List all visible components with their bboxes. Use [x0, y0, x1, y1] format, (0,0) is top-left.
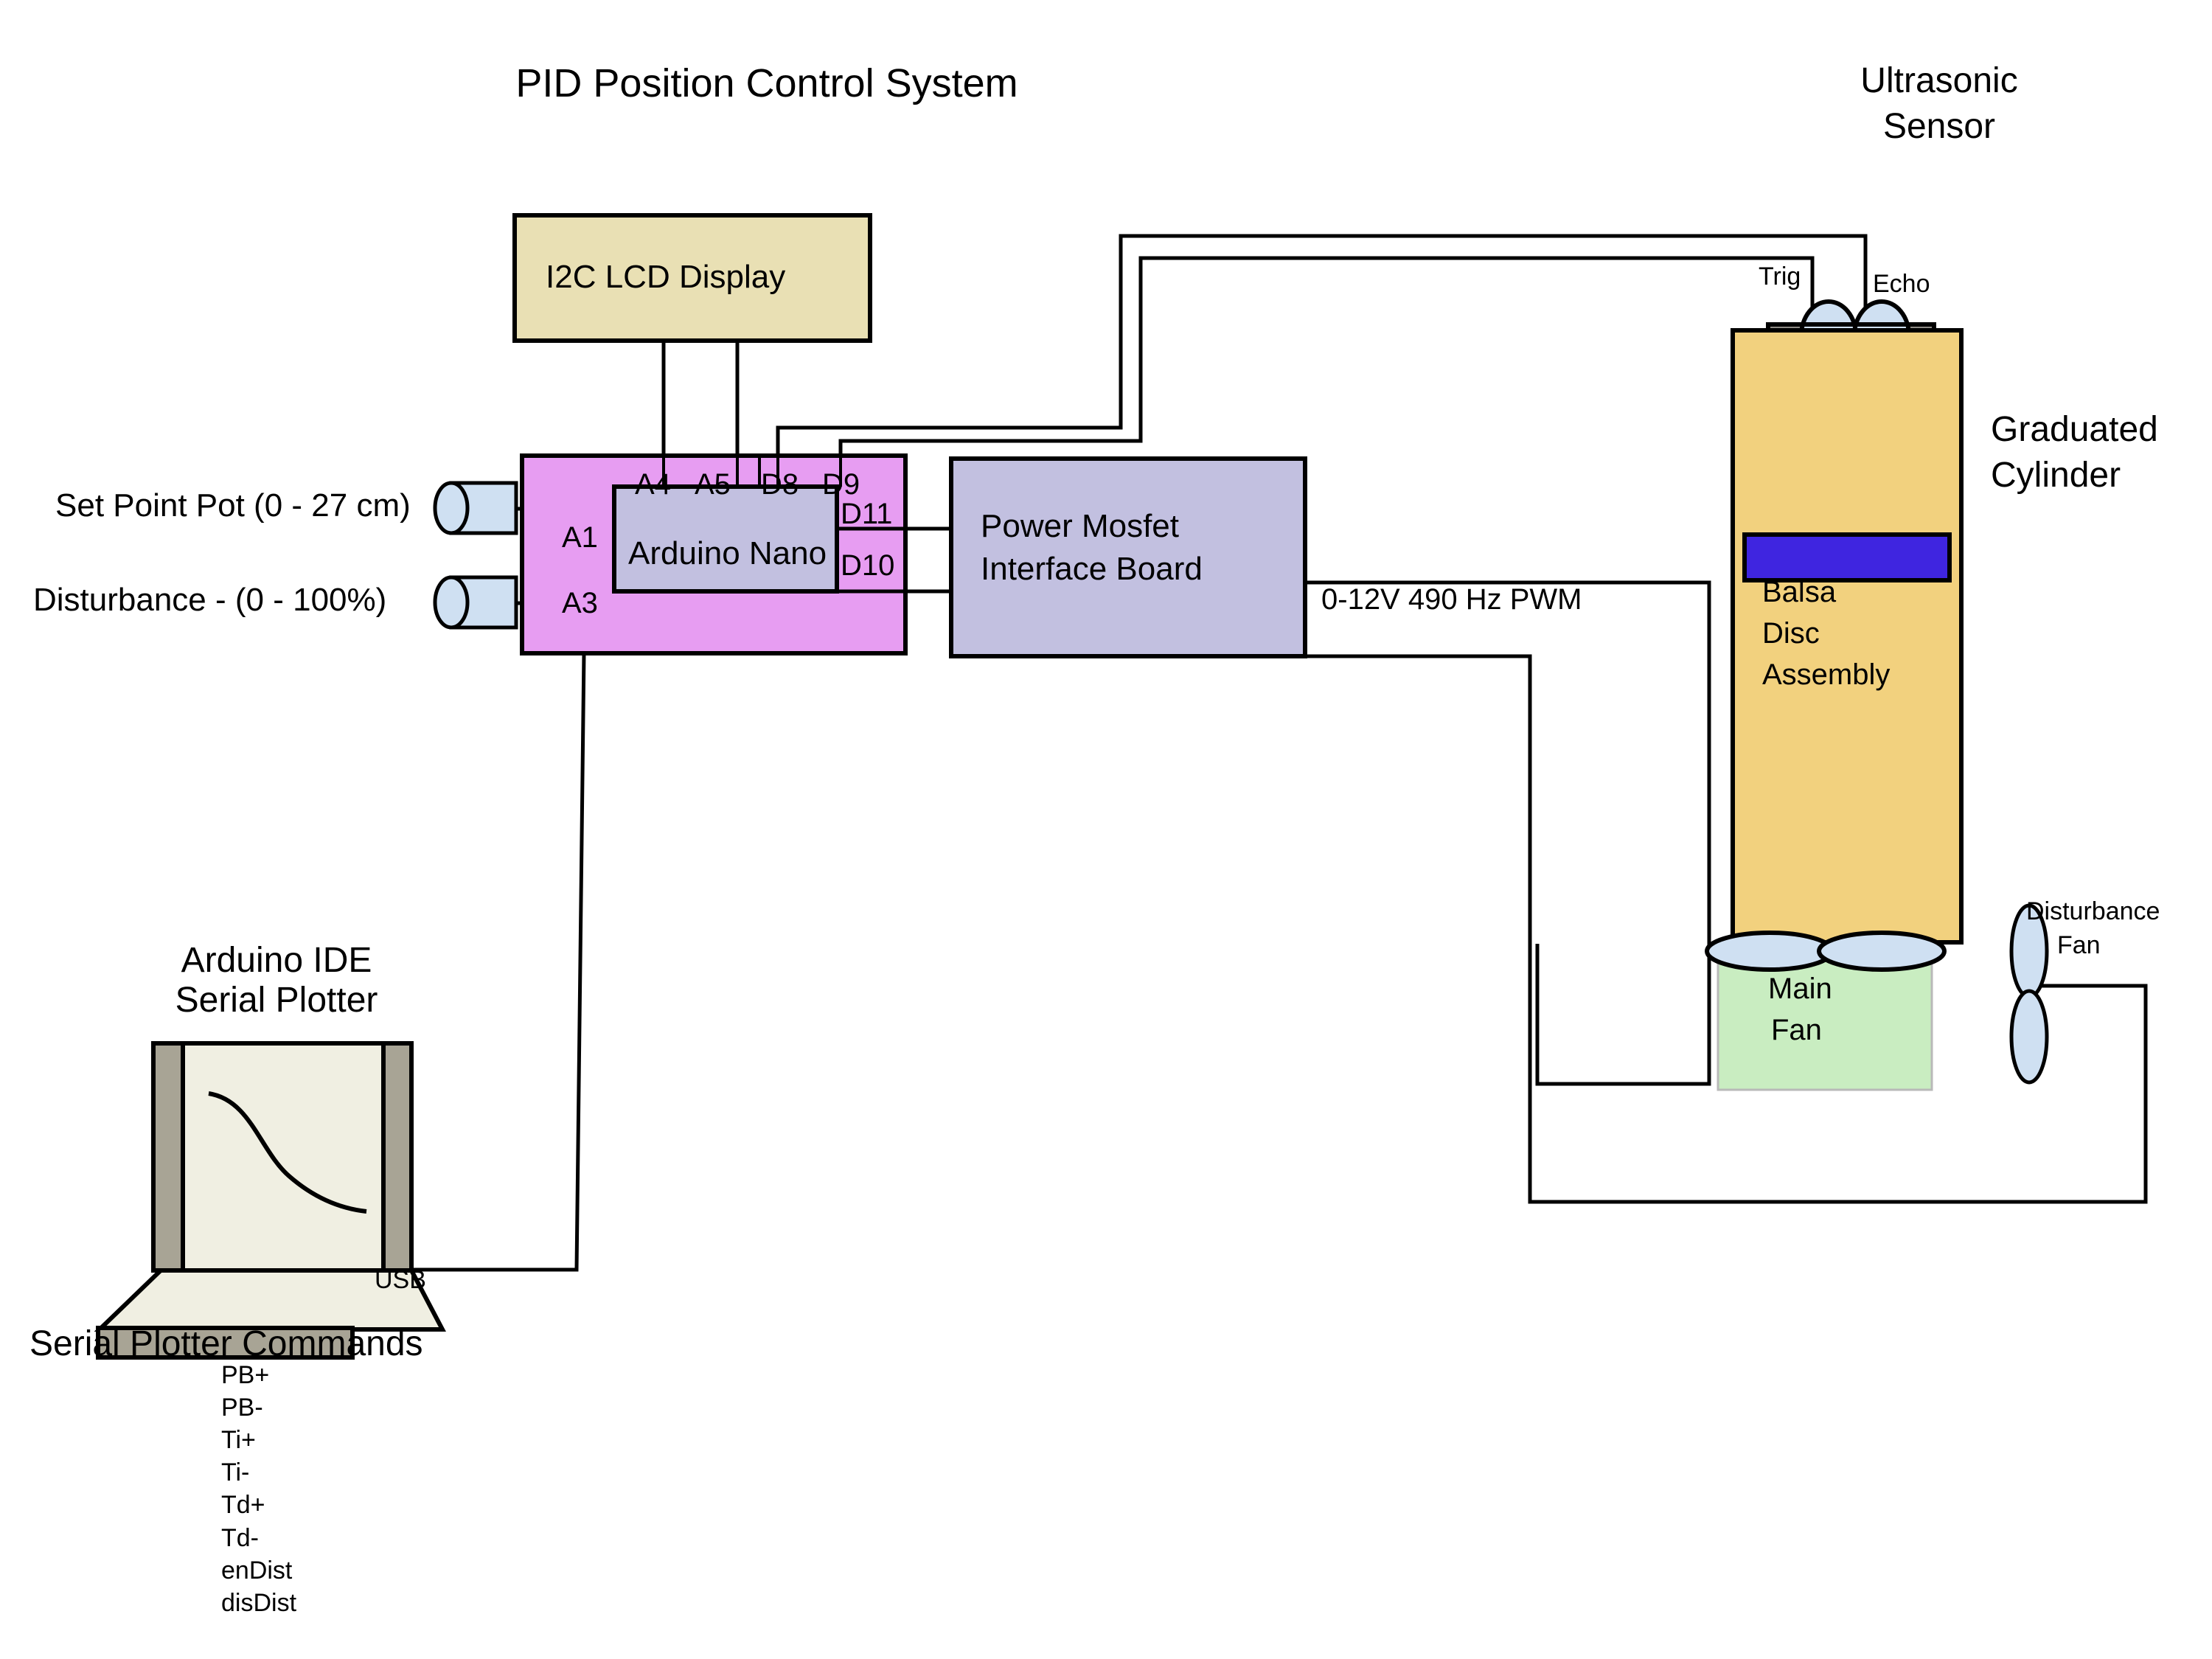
disturbance-pot[interactable]: [435, 577, 516, 627]
sensor-pin-label-echo: Echo: [1873, 269, 1930, 299]
wire-d9-trig: [841, 258, 1812, 487]
wire-d8-echo: [778, 236, 1865, 487]
serial-plotter-command-item: Td+: [221, 1490, 296, 1520]
pin-label-a5: A5: [695, 467, 731, 502]
lcd-display-label: I2C LCD Display: [546, 258, 785, 296]
serial-plotter-command-item: Ti+: [221, 1425, 296, 1455]
diagram-svg: [0, 0, 2212, 1659]
pin-label-d11: D11: [841, 497, 892, 532]
serial-plotter-command-item: PB+: [221, 1360, 296, 1390]
ultrasonic-sensor-label-line2: Sensor: [1821, 106, 2057, 148]
disturbance-fan-blade-bottom: [2011, 991, 2047, 1082]
ultrasonic-sensor-label-line1: Ultrasonic: [1821, 60, 2057, 102]
serial-plotter-commands-heading: Serial Plotter Commands: [29, 1324, 423, 1366]
main-fan-blade-left: [1707, 933, 1832, 970]
main-fan-label-line2: Fan: [1771, 1013, 1822, 1048]
main-fan-label-line1: Main: [1768, 972, 1832, 1006]
graduated-cylinder-label-line2: Cylinder: [1991, 455, 2121, 497]
serial-plotter-commands-list: PB+PB-Ti+Ti-Td+Td-enDistdisDist: [221, 1360, 296, 1621]
serial-plotter-command-item: Ti-: [221, 1458, 296, 1487]
arduino-nano-label: Arduino Nano: [628, 535, 827, 573]
usb-label: USB: [375, 1265, 426, 1295]
pin-label-a4: A4: [635, 467, 671, 502]
laptop-screen: [183, 1043, 383, 1270]
set-point-pot[interactable]: [435, 483, 516, 533]
serial-plotter-title-line1: Arduino IDE: [114, 940, 439, 982]
page-title: PID Position Control System: [472, 60, 1062, 108]
mosfet-board-label-line2: Interface Board: [981, 550, 1203, 588]
graduated-cylinder-label-line1: Graduated: [1991, 409, 2158, 451]
set-point-pot-label: Set Point Pot (0 - 27 cm): [55, 487, 411, 525]
pin-label-d10: D10: [841, 549, 894, 583]
main-fan-blade-right: [1819, 933, 1944, 970]
disturbance-pot-label: Disturbance - (0 - 100%): [33, 581, 386, 619]
pin-label-a3: A3: [562, 586, 598, 621]
pwm-wire-label: 0-12V 490 Hz PWM: [1321, 582, 1582, 617]
balsa-disc: [1745, 535, 1950, 580]
diagram-canvas: PID Position Control System I2C LCD Disp…: [0, 0, 2212, 1659]
serial-plotter-title-line2: Serial Plotter: [114, 980, 439, 1022]
disturbance-fan-label-line1: Disturbance: [2026, 897, 2160, 926]
balsa-disc-label-line2: Disc: [1762, 616, 1820, 651]
disturbance-fan-label-line2: Fan: [2057, 931, 2101, 960]
serial-plotter-command-item: disDist: [221, 1588, 296, 1618]
serial-plotter-command-item: PB-: [221, 1393, 296, 1422]
balsa-disc-label-line1: Balsa: [1762, 575, 1836, 610]
pin-label-d8: D8: [761, 467, 799, 502]
balsa-disc-label-line3: Assembly: [1762, 658, 1890, 692]
serial-plotter-command-item: Td-: [221, 1523, 296, 1553]
serial-plotter-command-item: enDist: [221, 1556, 296, 1585]
pin-label-a1: A1: [562, 521, 598, 555]
sensor-pin-label-trig: Trig: [1759, 262, 1801, 291]
mosfet-board-label-line1: Power Mosfet: [981, 507, 1179, 546]
